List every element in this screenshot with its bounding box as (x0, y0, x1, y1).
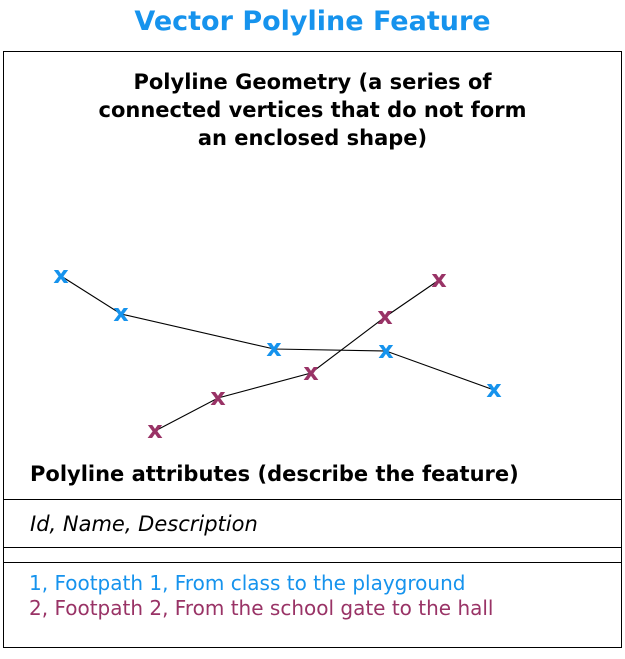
polyline-1-vertex-5: x (486, 375, 502, 403)
polyline-2-vertex-3: x (303, 358, 319, 386)
geometry-caption-line-2: connected vertices that do not form (4, 96, 621, 124)
attributes-header-label: Polyline attributes (describe the featur… (4, 462, 519, 486)
attribute-row: 2, Footpath 2, From the school gate to t… (4, 596, 621, 621)
polyline-1-vertex-2: x (113, 299, 129, 327)
attributes-rows: 1, Footpath 1, From class to the playgro… (4, 563, 621, 621)
polyline-2-path (155, 280, 439, 431)
polyline-1-vertex-4: x (378, 336, 394, 364)
polyline-1-vertex-1: x (53, 261, 69, 289)
divider-below-fields (4, 547, 621, 548)
attributes-header: Polyline attributes (describe the featur… (4, 449, 621, 499)
polyline-1-vertex-3: x (266, 334, 282, 362)
attributes-fields-label: Id, Name, Description (4, 512, 258, 536)
geometry-caption-line-1: Polyline Geometry (a series of (4, 68, 621, 96)
feature-card: xxxxxxxxxx Polyline Geometry (a series o… (3, 51, 622, 648)
polyline-2-vertex-4: x (377, 302, 393, 330)
vector-polyline-feature-diagram: Vector Polyline Feature xxxxxxxxxx Polyl… (0, 0, 625, 659)
vertex-markers-layer: xxxxxxxxxx (53, 261, 502, 444)
attributes-fields-row: Id, Name, Description (4, 500, 621, 547)
attribute-row: 1, Footpath 1, From class to the playgro… (4, 571, 621, 596)
geometry-caption-line-3: an enclosed shape) (4, 124, 621, 152)
geometry-caption: Polyline Geometry (a series of connected… (4, 68, 621, 152)
polyline-2-vertex-1: x (147, 416, 163, 444)
page-title: Vector Polyline Feature (0, 4, 625, 40)
polyline-2-vertex-2: x (210, 383, 226, 411)
polyline-1-path (61, 276, 494, 390)
polyline-2-vertex-5: x (431, 265, 447, 293)
